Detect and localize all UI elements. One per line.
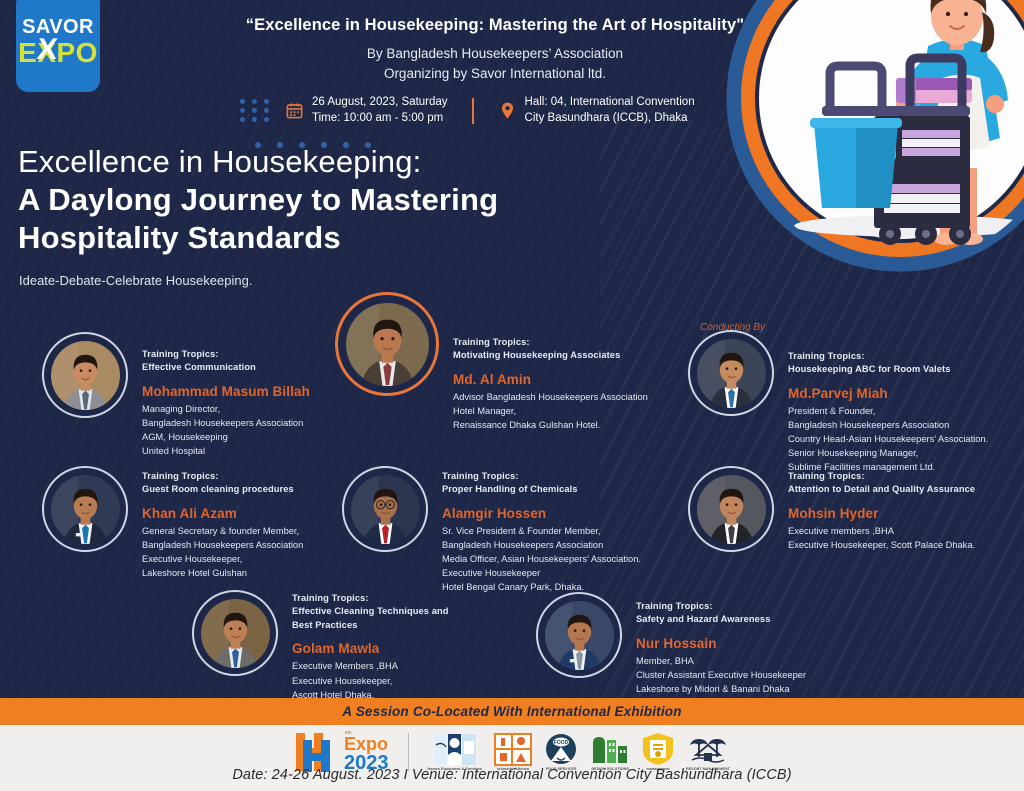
design-solutions-icon xyxy=(590,733,630,766)
training-topic-label: Training Tropics: xyxy=(788,350,988,363)
title-line-2: A Daylong Journey to Mastering xyxy=(18,181,498,219)
training-topic: Training Tropics: Effective Communicatio… xyxy=(142,348,310,375)
avatar xyxy=(688,466,774,552)
training-topic: Training Tropics: Attention to Detail an… xyxy=(788,470,975,497)
speaker-role-line: Senior Housekeeping Manager, xyxy=(788,446,988,460)
training-topic: Training Tropics: Housekeeping ABC for R… xyxy=(788,350,988,377)
speaker-roles: Sr. Vice President & Founder Member,Bang… xyxy=(442,524,641,595)
speaker-card-mohammad-masum-billah: Training Tropics: Effective Communicatio… xyxy=(42,332,310,458)
speaker-role-line: Member, BHA xyxy=(636,654,806,668)
event-date-item: 26 August, 2023, Saturday Time: 10:00 am… xyxy=(285,95,448,126)
speaker-photo-0 xyxy=(51,341,120,410)
speaker-role-line: Advisor Bangladesh Housekeepers Associat… xyxy=(453,390,648,404)
by-line: By Bangladesh Housekeepers’ Association xyxy=(170,44,820,64)
training-topic: Training Tropics: Motivating Housekeepin… xyxy=(453,336,648,363)
avatar xyxy=(335,292,439,396)
speaker-name: Alamgir Hossen xyxy=(442,506,641,521)
speaker-role-line: Cluster Assistant Executive Housekeeper xyxy=(636,668,806,682)
speaker-photo-1 xyxy=(346,303,429,386)
speaker-card-md-al-amin: Training Tropics: Motivating Housekeepin… xyxy=(335,292,648,432)
avatar xyxy=(192,590,278,676)
map-pin-icon xyxy=(498,101,517,120)
partner-logo-homes-equipment: Homes Equipment & Furniture xyxy=(428,733,483,772)
speaker-role-line: AGM, Housekeeping xyxy=(142,430,310,444)
speaker-name: Mohsin Hyder xyxy=(788,506,975,521)
speaker-info: Training Tropics: Attention to Detail an… xyxy=(774,466,975,552)
homes-equipment-icon xyxy=(433,733,477,766)
title-line-1: Excellence in Housekeeping: xyxy=(18,143,498,181)
venue-line-2: City Basundhara (ICCB), Dhaka xyxy=(525,112,688,124)
speaker-role-line: Executive Housekeeper, xyxy=(142,552,303,566)
title-line-3: Hospitality Standards xyxy=(18,219,498,257)
organizer-block: By Bangladesh Housekeepers’ Association … xyxy=(170,44,820,83)
date-line-1: 26 August, 2023, Saturday xyxy=(312,96,448,108)
speaker-role-line: Bangladesh Housekeepers Association xyxy=(142,538,303,552)
speaker-role-line: Executive Members ,BHA xyxy=(292,659,449,673)
speaker-card-golam-mawla: Training Tropics: Effective Cleaning Tec… xyxy=(192,590,449,702)
organizing-line: Organizing by Savor International ltd. xyxy=(170,64,820,84)
speaker-role-line: Bangladesh Housekeepers Association xyxy=(442,538,641,552)
speaker-info: Training Tropics: Guest Room cleaning pr… xyxy=(128,466,303,580)
speaker-photo-4 xyxy=(351,475,420,544)
speaker-name: Md. Al Amin xyxy=(453,372,648,387)
speaker-role-line: Lakeshore Hotel Gulshan xyxy=(142,566,303,580)
management-shield-icon xyxy=(642,732,674,766)
date-line-2: Time: 10:00 am - 5:00 pm xyxy=(312,112,443,124)
avatar-photo xyxy=(697,339,766,408)
training-topic: Training Tropics: Guest Room cleaning pr… xyxy=(142,470,303,497)
calendar-icon xyxy=(285,101,304,120)
speaker-info: Training Tropics: Housekeeping ABC for R… xyxy=(774,330,988,475)
food-services-icon: FOOD xyxy=(544,733,578,766)
training-topic-label: Training Tropics: xyxy=(453,336,648,349)
speaker-name: Nur Hossain xyxy=(636,636,806,651)
partner-logo-food-services: FOOD FOOD SERVICES xyxy=(544,733,578,772)
speaker-info: Training Tropics: Effective Communicatio… xyxy=(128,332,310,458)
svg-text:FOOD: FOOD xyxy=(554,740,569,746)
speaker-roles: President & Founder,Bangladesh Housekeep… xyxy=(788,404,988,475)
speaker-name: Khan Ali Azam xyxy=(142,506,303,521)
training-topic-label: Training Tropics: xyxy=(788,470,975,483)
avatar xyxy=(536,592,622,678)
tagline: Ideate-Debate-Celebrate Housekeeping. xyxy=(19,273,252,288)
training-topic-label: Training Tropics: xyxy=(292,592,449,605)
logo-divider xyxy=(408,733,409,771)
speaker-photo-3 xyxy=(51,475,120,544)
training-topic: Training Tropics: Safety and Hazard Awar… xyxy=(636,600,806,627)
speaker-info: Training Tropics: Proper Handling of Che… xyxy=(428,466,641,595)
speaker-role-line: Bangladesh Housekeepers Association xyxy=(142,416,310,430)
avatar xyxy=(42,332,128,418)
resort-management-icon xyxy=(689,733,727,766)
colocated-banner: A Session Co-Located With International … xyxy=(0,698,1024,725)
speaker-info: Training Tropics: Safety and Hazard Awar… xyxy=(622,592,806,696)
avatar-photo xyxy=(51,341,120,410)
speaker-role-line: Executive members ,BHA xyxy=(788,524,975,538)
avatar-photo xyxy=(697,475,766,544)
footer-date-venue: Date: 24-26 August. 2023 I Venue: Intern… xyxy=(0,767,1024,783)
avatar xyxy=(342,466,428,552)
speaker-roles: General Secretary & founder Member,Bangl… xyxy=(142,524,303,581)
header-block: “Excellence in Housekeeping: Mastering t… xyxy=(170,16,820,83)
logo-x-overlay: X xyxy=(35,35,61,69)
training-topic-label: Training Tropics: xyxy=(142,470,303,483)
decorative-dots-left xyxy=(240,99,269,122)
avatar-photo xyxy=(351,475,420,544)
speaker-photo-6 xyxy=(201,599,270,668)
speaker-role-line: Executive Housekeeper, Scott Palace Dhak… xyxy=(788,538,975,552)
event-date-text: 26 August, 2023, Saturday Time: 10:00 am… xyxy=(312,95,448,126)
speaker-card-alamgir-hossen: Training Tropics: Proper Handling of Che… xyxy=(342,466,641,595)
speaker-name: Md.Parvej Miah xyxy=(788,386,988,401)
speaker-name: Golam Mawla xyxy=(292,641,449,656)
partner-logo-management: management xyxy=(642,732,674,772)
savor-expo-logo: SAVOR EXPO X xyxy=(16,0,100,92)
speaker-roles: Member, BHACluster Assistant Executive H… xyxy=(636,654,806,696)
avatar-photo xyxy=(201,599,270,668)
avatar-photo xyxy=(545,601,614,670)
speaker-role-line: Media Officer, Asian Housekeepers’ Assoc… xyxy=(442,552,641,566)
industrial-kitchen-icon xyxy=(494,733,532,766)
speaker-card-mohsin-hyder: Training Tropics: Attention to Detail an… xyxy=(688,466,975,552)
training-topic: Training Tropics: Proper Handling of Che… xyxy=(442,470,641,497)
speaker-roles: Executive Members ,BHAExecutive Housekee… xyxy=(292,659,449,701)
speaker-name: Mohammad Masum Billah xyxy=(142,384,310,399)
speaker-roles: Executive members ,BHAExecutive Housekee… xyxy=(788,524,975,552)
event-poster: SAVOR EXPO X “Excellence in Housekeeping… xyxy=(0,0,1024,791)
avatar xyxy=(688,330,774,416)
speaker-card-nur-hossain: Training Tropics: Safety and Hazard Awar… xyxy=(536,592,806,696)
speaker-roles: Advisor Bangladesh Housekeepers Associat… xyxy=(453,390,648,432)
training-topic-label: Training Tropics: xyxy=(442,470,641,483)
page-title: Excellence in Housekeeping: A Daylong Jo… xyxy=(18,143,498,256)
speaker-role-line: Executive Housekeeper xyxy=(442,566,641,580)
speaker-role-line: General Secretary & founder Member, xyxy=(142,524,303,538)
speaker-roles: Managing Director,Bangladesh Housekeeper… xyxy=(142,402,310,459)
event-venue-item: Hall: 04, International Convention City … xyxy=(498,95,695,126)
expo-word: Expo xyxy=(344,735,389,753)
speaker-card-khan-ali-azam: Training Tropics: Guest Room cleaning pr… xyxy=(42,466,303,580)
partner-logo-design-solutions: DESIGN SOLUTIONS xyxy=(590,733,630,772)
speaker-info: Training Tropics: Motivating Housekeepin… xyxy=(439,292,648,432)
speaker-info: Training Tropics: Effective Cleaning Tec… xyxy=(278,590,449,702)
speaker-role-line: President & Founder, xyxy=(788,404,988,418)
event-venue-text: Hall: 04, International Convention City … xyxy=(525,95,695,126)
colocated-banner-text: A Session Co-Located With International … xyxy=(342,704,681,719)
logo-expo-text: EXPO X xyxy=(18,39,98,67)
training-topic-label: Training Tropics: xyxy=(142,348,310,361)
speaker-role-line: United Hospital xyxy=(142,444,310,458)
event-meta: 26 August, 2023, Saturday Time: 10:00 am… xyxy=(240,95,800,126)
training-topic-label: Training Tropics: xyxy=(636,600,806,613)
avatar xyxy=(42,466,128,552)
venue-line-1: Hall: 04, International Convention xyxy=(525,96,695,108)
speaker-photo-7 xyxy=(545,601,614,670)
avatar-photo xyxy=(346,303,429,386)
partner-logo-industrial-kitchen: Industrial Kitchen xyxy=(494,733,532,772)
speaker-role-line: Managing Director, xyxy=(142,402,310,416)
training-topic: Training Tropics: Effective Cleaning Tec… xyxy=(292,592,449,632)
speaker-role-line: Lakeshore by Midori & Banani Dhaka xyxy=(636,682,806,696)
speaker-photo-5 xyxy=(697,475,766,544)
speaker-role-line: Sr. Vice President & Founder Member, xyxy=(442,524,641,538)
speaker-role-line: Renaissance Dhaka Gulshan Hotel. xyxy=(453,418,648,432)
avatar-photo xyxy=(51,475,120,544)
speaker-role-line: Executive Housekeeper, xyxy=(292,674,449,688)
speaker-role-line: Hotel Manager, xyxy=(453,404,648,418)
event-quote: “Excellence in Housekeeping: Mastering t… xyxy=(170,16,820,35)
partner-logo-resort-management: RESORT MANAGEMENT xyxy=(686,733,730,772)
meta-divider xyxy=(472,98,474,124)
speaker-role-line: Bangladesh Housekeepers Association xyxy=(788,418,988,432)
speaker-role-line: Country Head-Asian Housekeepers’ Associa… xyxy=(788,432,988,446)
speaker-card-md-parvej-miah: Training Tropics: Housekeeping ABC for R… xyxy=(688,330,988,475)
speaker-photo-2 xyxy=(697,339,766,408)
